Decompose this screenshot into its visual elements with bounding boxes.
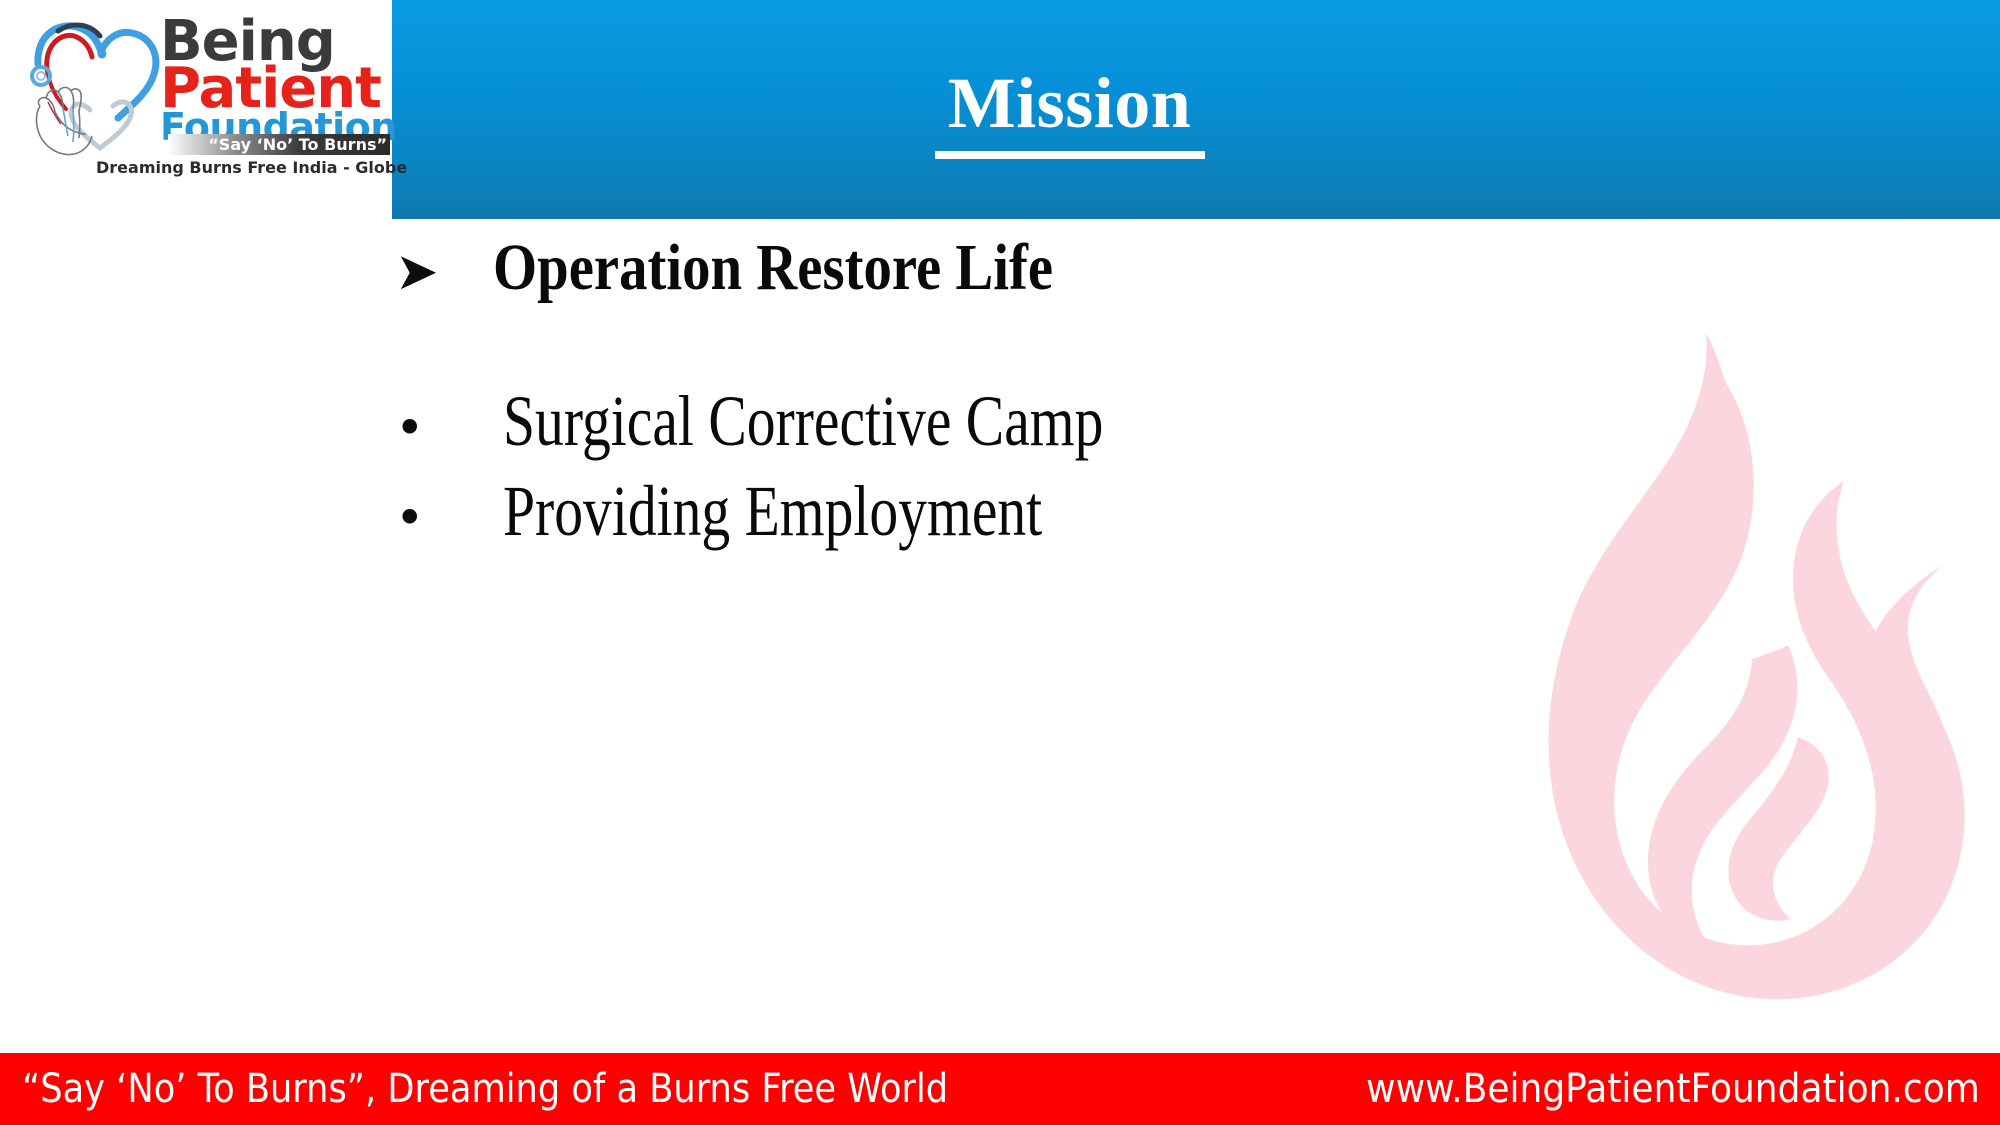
header-banner: Mission [392,0,2000,219]
slide-canvas: Mission [0,0,2000,1125]
logo-subtagline: Dreaming Burns Free India - Globe [96,158,390,178]
organization-logo: Being Patient Foundation “Say ‘No’ To Bu… [18,6,390,196]
list-item-main-bullet: ➤ Operation Restore Life [395,233,1144,302]
header-title-container: Mission [392,0,1747,219]
page-title: Mission [948,61,1192,139]
heart-stethoscope-hand-logo-icon [18,6,173,166]
footer-bar: “Say ‘No’ To Burns”, Dreaming of a Burns… [0,1053,2000,1125]
title-underline [935,151,1205,159]
list-item: • Surgical Corrective Camp [395,385,1395,475]
sub-bullet-label: Surgical Corrective Camp [503,385,1103,457]
dot-bullet-icon: • [395,403,503,453]
main-bullet-label: Operation Restore Life [493,233,1053,302]
flame-icon [1478,285,2000,1060]
slide-content: ➤ Operation Restore Life • Surgical Corr… [0,219,1480,1053]
dot-bullet-icon: • [395,493,503,543]
arrow-bullet-icon: ➤ [395,246,493,298]
footer-website-link[interactable]: www.BeingPatientFoundation.com [1366,1066,1980,1112]
logo-tagline-text: “Say ‘No’ To Burns” [208,135,387,154]
logo-subtagline-text: Dreaming Burns Free India - Globe [96,158,407,177]
sub-bullet-list: • Surgical Corrective Camp • Providing E… [395,385,1395,565]
logo-tagline-bar: “Say ‘No’ To Burns” [168,134,390,155]
list-item: • Providing Employment [395,475,1395,565]
logo-wordmark: Being Patient Foundation [160,18,390,144]
footer-tagline: “Say ‘No’ To Burns”, Dreaming of a Burns… [22,1066,948,1112]
sub-bullet-label: Providing Employment [503,475,1042,547]
